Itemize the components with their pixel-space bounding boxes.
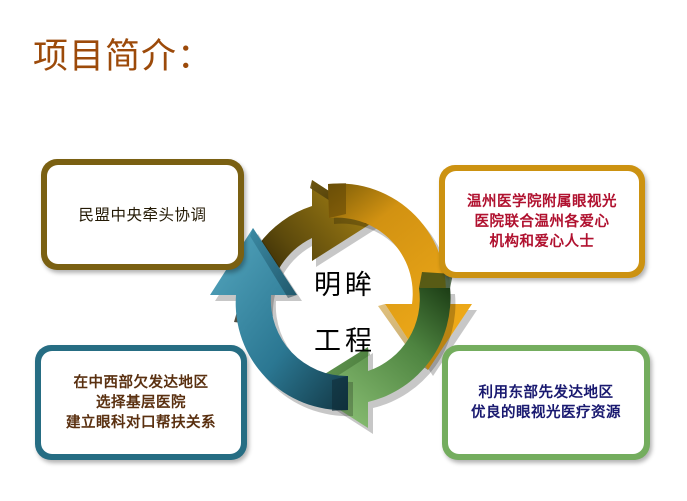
page-title: 项目简介： (33, 34, 213, 80)
node-box-bottom-left[interactable]: 在中西部欠发达地区 选择基层医院 建立眼科对口帮扶关系 (35, 345, 247, 460)
node-label-bottom-left: 在中西部欠发达地区 选择基层医院 建立眼科对口帮扶关系 (66, 373, 216, 433)
node-box-bottom-right[interactable]: 利用东部先发达地区 优良的眼视光医疗资源 (442, 345, 650, 460)
node-inner-top-left: 民盟中央牵头协调 (47, 165, 238, 264)
node-box-top-left[interactable]: 民盟中央牵头协调 (41, 159, 244, 270)
node-inner-bottom-right: 利用东部先发达地区 优良的眼视光医疗资源 (448, 351, 644, 454)
node-inner-bottom-left: 在中西部欠发达地区 选择基层医院 建立眼科对口帮扶关系 (41, 351, 241, 454)
node-label-top-right: 温州医学院附属眼视光 医院联合温州各爱心 机构和爱心人士 (467, 192, 617, 252)
slide-canvas: 项目简介： (0, 0, 687, 501)
node-label-top-left: 民盟中央牵头协调 (78, 205, 206, 225)
node-label-bottom-right: 利用东部先发达地区 优良的眼视光医疗资源 (471, 383, 621, 423)
node-inner-top-right: 温州医学院附属眼视光 医院联合温州各爱心 机构和爱心人士 (445, 171, 639, 272)
node-box-top-right[interactable]: 温州医学院附属眼视光 医院联合温州各爱心 机构和爱心人士 (439, 165, 645, 278)
